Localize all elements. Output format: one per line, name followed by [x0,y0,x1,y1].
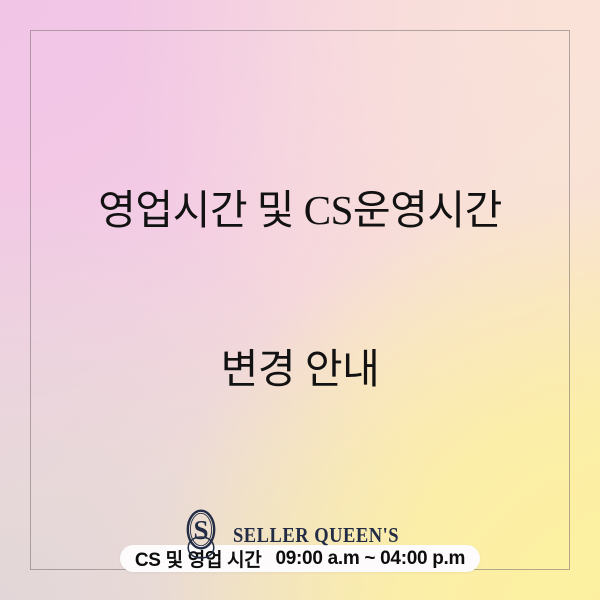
brand-logo: S SELLER QUEEN'S [0,507,600,564]
promo-notice-poster: 영업시간 및 CS운영시간 변경 안내 CS 및 영업 시간 09:00 a.m… [0,0,600,600]
title-line-2: 변경 안내 [98,343,502,396]
brand-wordmark: SELLER QUEEN'S [233,523,399,548]
page-title: 영업시간 및 CS운영시간 변경 안내 [98,78,502,502]
sq-monogram-icon: S [179,507,223,564]
title-line-1: 영업시간 및 CS운영시간 [98,184,502,237]
svg-text:S: S [193,515,208,545]
